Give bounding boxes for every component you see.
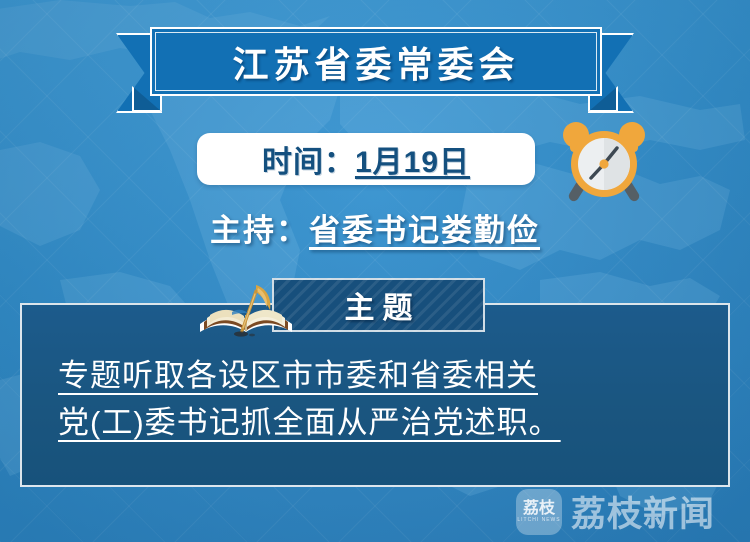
ribbon-banner: 江苏省委常委会 — [150, 27, 602, 96]
theme-header-box: 主题 — [272, 278, 485, 332]
watermark: 荔枝 LITCHI NEWS 荔枝新闻 — [516, 486, 715, 537]
open-book-quill-icon — [196, 282, 300, 340]
logo-badge-sub: LITCHI NEWS — [517, 517, 560, 524]
time-text: 时间：1月19日 — [262, 137, 470, 181]
host-value: 省委书记娄勤俭 — [309, 213, 540, 248]
watermark-text: 荔枝新闻 — [571, 486, 715, 537]
theme-label: 主题 — [337, 283, 421, 327]
host-prefix: 主持： — [210, 213, 309, 248]
time-value: 1月19日 — [355, 146, 470, 179]
host-line: 主持：省委书记娄勤俭 — [0, 205, 750, 250]
logo-badge-main: 荔枝 — [523, 500, 555, 517]
poster-root: 江苏省委常委会 时间：1月19日 主持：省委书记娄勤俭 — [0, 0, 750, 542]
body-line-1: 专题听取各设区市市委和省委相关 — [58, 352, 698, 399]
alarm-clock-icon — [548, 118, 660, 204]
title-ribbon: 江苏省委常委会 — [0, 0, 750, 120]
time-prefix: 时间： — [262, 146, 355, 179]
litchi-news-logo-icon: 荔枝 LITCHI NEWS — [516, 489, 562, 535]
time-pill: 时间：1月19日 — [197, 133, 535, 185]
body-line-2: 党(工)委书记抓全面从严治党述职。 — [58, 399, 698, 446]
body-text: 专题听取各设区市市委和省委相关 党(工)委书记抓全面从严治党述职。 — [58, 352, 698, 446]
page-title: 江苏省委常委会 — [232, 36, 519, 88]
